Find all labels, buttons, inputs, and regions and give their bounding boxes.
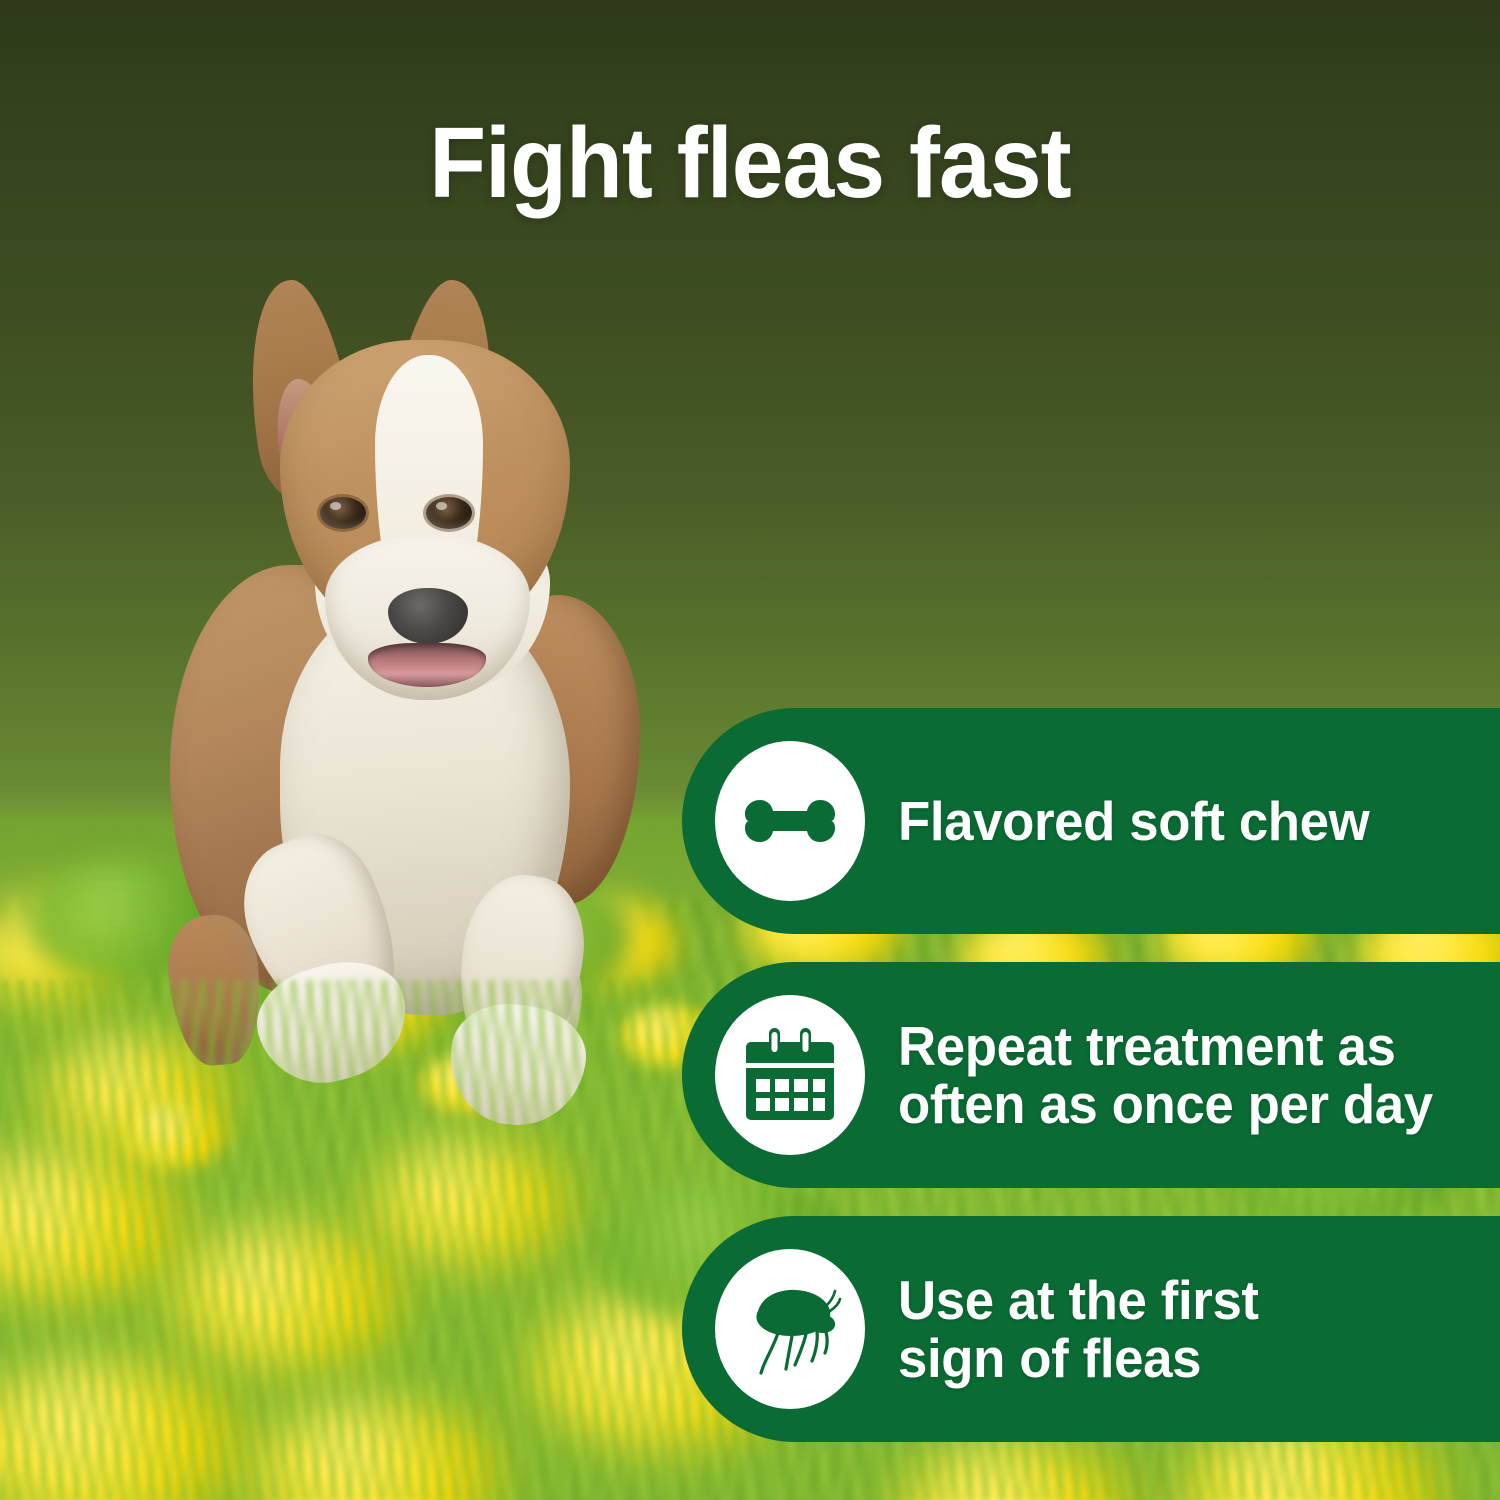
bone-icon <box>742 792 838 850</box>
dog-photo-subject <box>130 265 650 1075</box>
feature-icon-badge <box>715 995 865 1155</box>
feature-item-first-sign-of-fleas[interactable]: Use at the first sign of fleas <box>682 1216 1500 1442</box>
feature-icon-badge <box>715 741 865 901</box>
flea-icon <box>738 1281 842 1377</box>
feature-label: Use at the first sign of fleas <box>898 1271 1272 1388</box>
dog-eye-left <box>320 497 366 529</box>
page-title: Fight fleas fast <box>53 112 1448 214</box>
dog-eye-right <box>426 497 472 529</box>
feature-item-flavored-soft-chew[interactable]: Flavored soft chew <box>682 708 1500 934</box>
calendar-icon <box>745 1028 835 1122</box>
feature-item-repeat-treatment[interactable]: Repeat treatment as often as once per da… <box>682 962 1500 1188</box>
feature-label: Flavored soft chew <box>898 792 1383 850</box>
feature-icon-badge <box>715 1249 865 1409</box>
feature-list: Flavored soft chew <box>682 708 1500 1442</box>
product-feature-banner: Fight fleas fast Flavored soft chew <box>0 0 1500 1500</box>
feature-label: Repeat treatment as often as once per da… <box>898 1017 1446 1134</box>
